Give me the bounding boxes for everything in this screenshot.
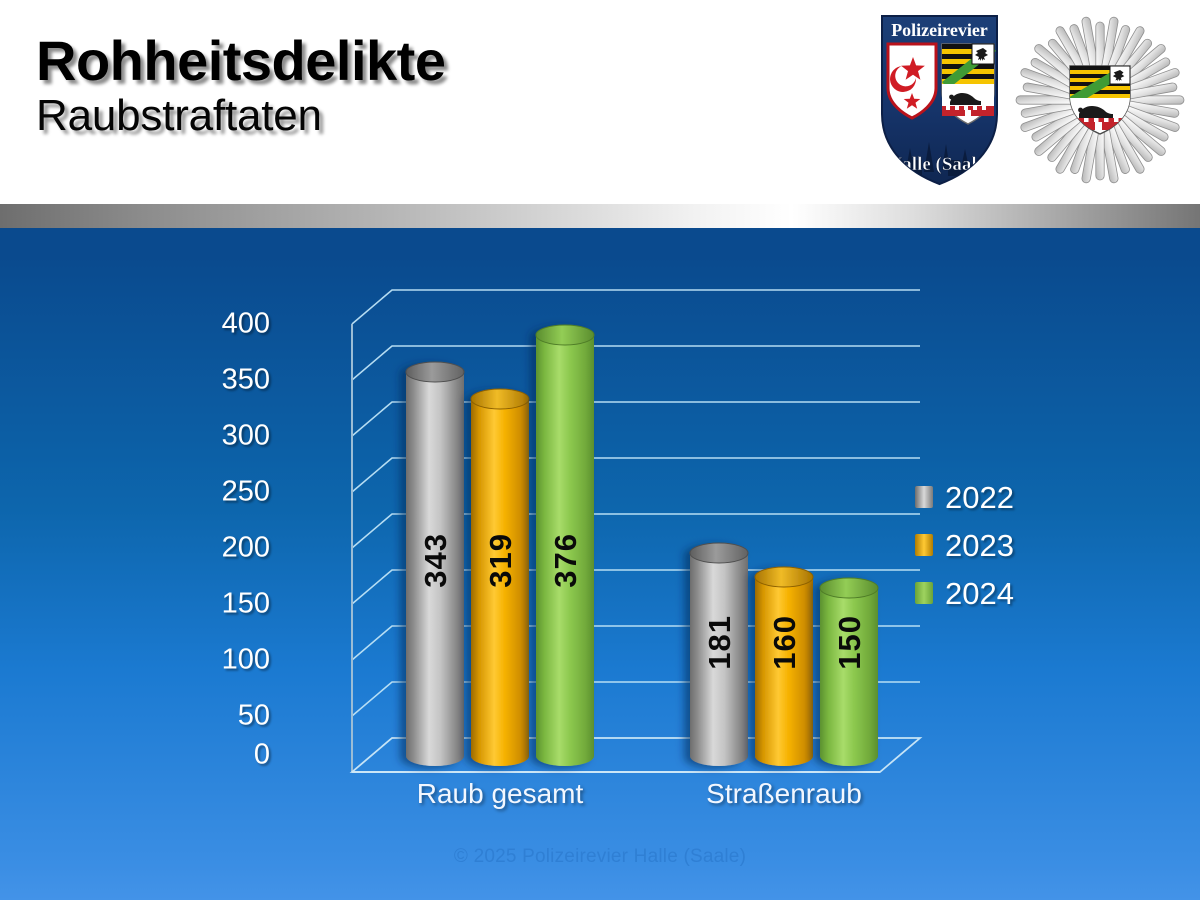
header-divider bbox=[0, 204, 1200, 228]
y-tick-350: 350 bbox=[180, 364, 270, 397]
bar-2024-strassenraub bbox=[820, 578, 878, 766]
y-tick-100: 100 bbox=[180, 644, 270, 677]
chart-panel: 400 350 300 250 200 150 100 50 0 343 319… bbox=[0, 228, 1200, 900]
y-tick-150: 150 bbox=[180, 588, 270, 621]
y-tick-50: 50 bbox=[180, 700, 270, 733]
y-tick-300: 300 bbox=[180, 420, 270, 453]
bar-label-2024-strassenraub: 150 bbox=[834, 615, 865, 670]
bar-label-2023-raub-gesamt: 319 bbox=[485, 533, 516, 588]
legend-label-2023: 2023 bbox=[945, 530, 1014, 561]
category-label-raub-gesamt: Raub gesamt bbox=[417, 778, 584, 810]
legend-item-2024[interactable]: 2024 bbox=[915, 576, 1014, 610]
slide: Rohheitsdelikte Raubstraftaten bbox=[0, 0, 1200, 900]
y-tick-250: 250 bbox=[180, 476, 270, 509]
bar-label-2022-raub-gesamt: 343 bbox=[420, 533, 451, 588]
chart-legend: 2022 2023 2024 bbox=[915, 480, 1014, 610]
y-tick-400: 400 bbox=[180, 308, 270, 341]
bar-label-2024-raub-gesamt: 376 bbox=[550, 533, 581, 588]
y-tick-0: 0 bbox=[180, 739, 270, 772]
svg-text:Halle (Saale): Halle (Saale) bbox=[888, 154, 992, 175]
legend-swatch-2024 bbox=[915, 582, 933, 604]
logo-group: Polizeirevier bbox=[872, 10, 1188, 190]
title-block: Rohheitsdelikte Raubstraftaten bbox=[36, 32, 445, 139]
legend-swatch-2022 bbox=[915, 486, 933, 508]
legend-label-2022: 2022 bbox=[945, 482, 1014, 513]
bar-label-2023-strassenraub: 160 bbox=[769, 615, 800, 670]
page-subtitle: Raubstraftaten bbox=[36, 93, 445, 139]
legend-label-2024: 2024 bbox=[945, 578, 1014, 609]
legend-item-2022[interactable]: 2022 bbox=[915, 480, 1014, 514]
legend-swatch-2023 bbox=[915, 534, 933, 556]
page-title: Rohheitsdelikte bbox=[36, 32, 445, 89]
footer-copyright: © 2025 Polizeirevier Halle (Saale) bbox=[0, 846, 1200, 868]
legend-item-2023[interactable]: 2023 bbox=[915, 528, 1014, 562]
y-axis: 400 350 300 250 200 150 100 50 0 bbox=[170, 228, 270, 900]
y-tick-200: 200 bbox=[180, 532, 270, 565]
polizei-sachsen-anhalt-star-badge-icon bbox=[1013, 10, 1188, 190]
category-label-strassenraub: Straßenraub bbox=[706, 778, 862, 810]
polizeirevier-halle-saale-shield-icon: Polizeirevier bbox=[872, 10, 1007, 190]
bar-label-2022-strassenraub: 181 bbox=[704, 615, 735, 670]
svg-text:Polizeirevier: Polizeirevier bbox=[891, 20, 988, 40]
slide-header: Rohheitsdelikte Raubstraftaten bbox=[0, 0, 1200, 204]
